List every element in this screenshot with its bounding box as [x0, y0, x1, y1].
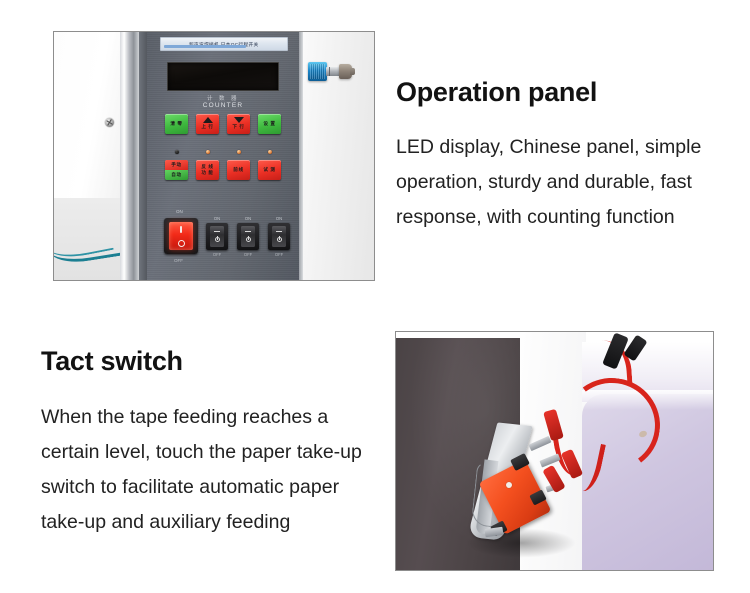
power-symbol-icon: [277, 237, 282, 242]
arrow-up-icon: [203, 117, 213, 123]
button-row-secondary: 手动 自动 反 线 功 能 前线 试 测: [165, 160, 281, 180]
front-feed-label: 前线: [233, 167, 243, 173]
down-button-label: 下 行: [232, 124, 244, 130]
hinge-shadow: [139, 32, 147, 281]
rocker-switch-2-cap[interactable]: [241, 226, 255, 247]
rocker-top-labels: ON ON ON: [206, 216, 290, 221]
indicator-lamp-icon: [268, 150, 272, 154]
power-switch-top-label: ON: [176, 209, 183, 214]
indicator-lamp-icon: [237, 150, 241, 154]
up-button[interactable]: 上 行: [196, 114, 219, 134]
power-on-icon: [180, 226, 182, 233]
rocker-switch-1-cap[interactable]: [210, 226, 224, 247]
right-housing-edge: [299, 32, 303, 281]
rocker-3-top-label: ON: [268, 216, 290, 221]
power-off-icon: [178, 240, 185, 247]
model-sticker: 超声波焊接机 日本OC行程开关: [160, 37, 288, 51]
reverse-feed-button[interactable]: 反 线 功 能: [196, 160, 219, 180]
tact-switch-body: When the tape feeding reaches a certain …: [41, 400, 371, 540]
operation-panel-heading: Operation panel: [396, 78, 597, 106]
indicator-lamp-icon: [175, 150, 179, 154]
switch-actuator-dot: [506, 482, 512, 488]
power-rocker-cap[interactable]: [169, 222, 193, 250]
front-feed-button[interactable]: 前线: [227, 160, 250, 180]
rocker-1-top-label: ON: [206, 216, 228, 221]
clear-button-label: 清 零: [170, 121, 182, 127]
rocker-switch-3[interactable]: [268, 223, 290, 250]
down-button[interactable]: 下 行: [227, 114, 250, 134]
auto-label: 自动: [171, 172, 181, 178]
screw-icon: [105, 118, 114, 127]
manual-label: 手动: [171, 162, 181, 168]
power-rocker-switch[interactable]: [164, 218, 198, 254]
rocker-2-bottom-label: OFF: [237, 252, 259, 257]
rocker-2-top-label: ON: [237, 216, 259, 221]
reverse-feed-label-bottom: 功 能: [201, 170, 213, 176]
up-button-label: 上 行: [201, 124, 213, 130]
counter-label-en: COUNTER: [167, 102, 279, 109]
rocker-switch-3-cap[interactable]: [272, 226, 286, 247]
rocker-1-bottom-label: OFF: [206, 252, 228, 257]
arrow-down-icon: [234, 117, 244, 123]
indicator-lamp-row: [165, 150, 281, 154]
indicator-lamp-icon: [206, 150, 210, 154]
product-feature-page: 超声波焊接机 日本OC行程开关 计 数 器 COUNTER 清 零 上 行 下 …: [0, 0, 750, 593]
dash-icon: [276, 231, 282, 232]
rocker-3-bottom-label: OFF: [268, 252, 290, 257]
rocker-bottom-labels: OFF OFF OFF: [206, 252, 290, 257]
dash-icon: [214, 231, 220, 232]
button-row-primary: 清 零 上 行 下 行 设 置: [165, 114, 281, 134]
set-button[interactable]: 设 置: [258, 114, 281, 134]
tact-switch-photo: [395, 331, 714, 571]
power-symbol-icon: [215, 237, 220, 242]
manual-auto-button[interactable]: 手动 自动: [165, 160, 188, 180]
rocker-switch-2[interactable]: [237, 223, 259, 250]
rocker-switch-1[interactable]: [206, 223, 228, 250]
pneumatic-fitting: [308, 62, 327, 81]
set-button-label: 设 置: [263, 121, 275, 127]
sticker-bar: [164, 45, 246, 48]
clear-button[interactable]: 清 零: [165, 114, 188, 134]
test-button[interactable]: 试 测: [258, 160, 281, 180]
test-button-label: 试 测: [263, 167, 275, 173]
dash-icon: [245, 231, 251, 232]
control-panel-photo: 超声波焊接机 日本OC行程开关 计 数 器 COUNTER 清 零 上 行 下 …: [53, 31, 375, 281]
cabinet-door: [54, 32, 126, 198]
power-symbol-icon: [246, 237, 251, 242]
operation-panel-body: LED display, Chinese panel, simple opera…: [396, 130, 718, 235]
power-switch-bottom-label: OFF: [174, 258, 183, 263]
hinge-strip: [120, 32, 139, 281]
counter-label-cn: 计 数 器: [167, 94, 279, 102]
fitting-stem: [326, 67, 340, 76]
fitting-tip: [350, 68, 355, 75]
rocker-switch-row: [206, 223, 290, 250]
tact-switch-heading: Tact switch: [41, 347, 183, 375]
led-counter-display: [167, 62, 279, 91]
